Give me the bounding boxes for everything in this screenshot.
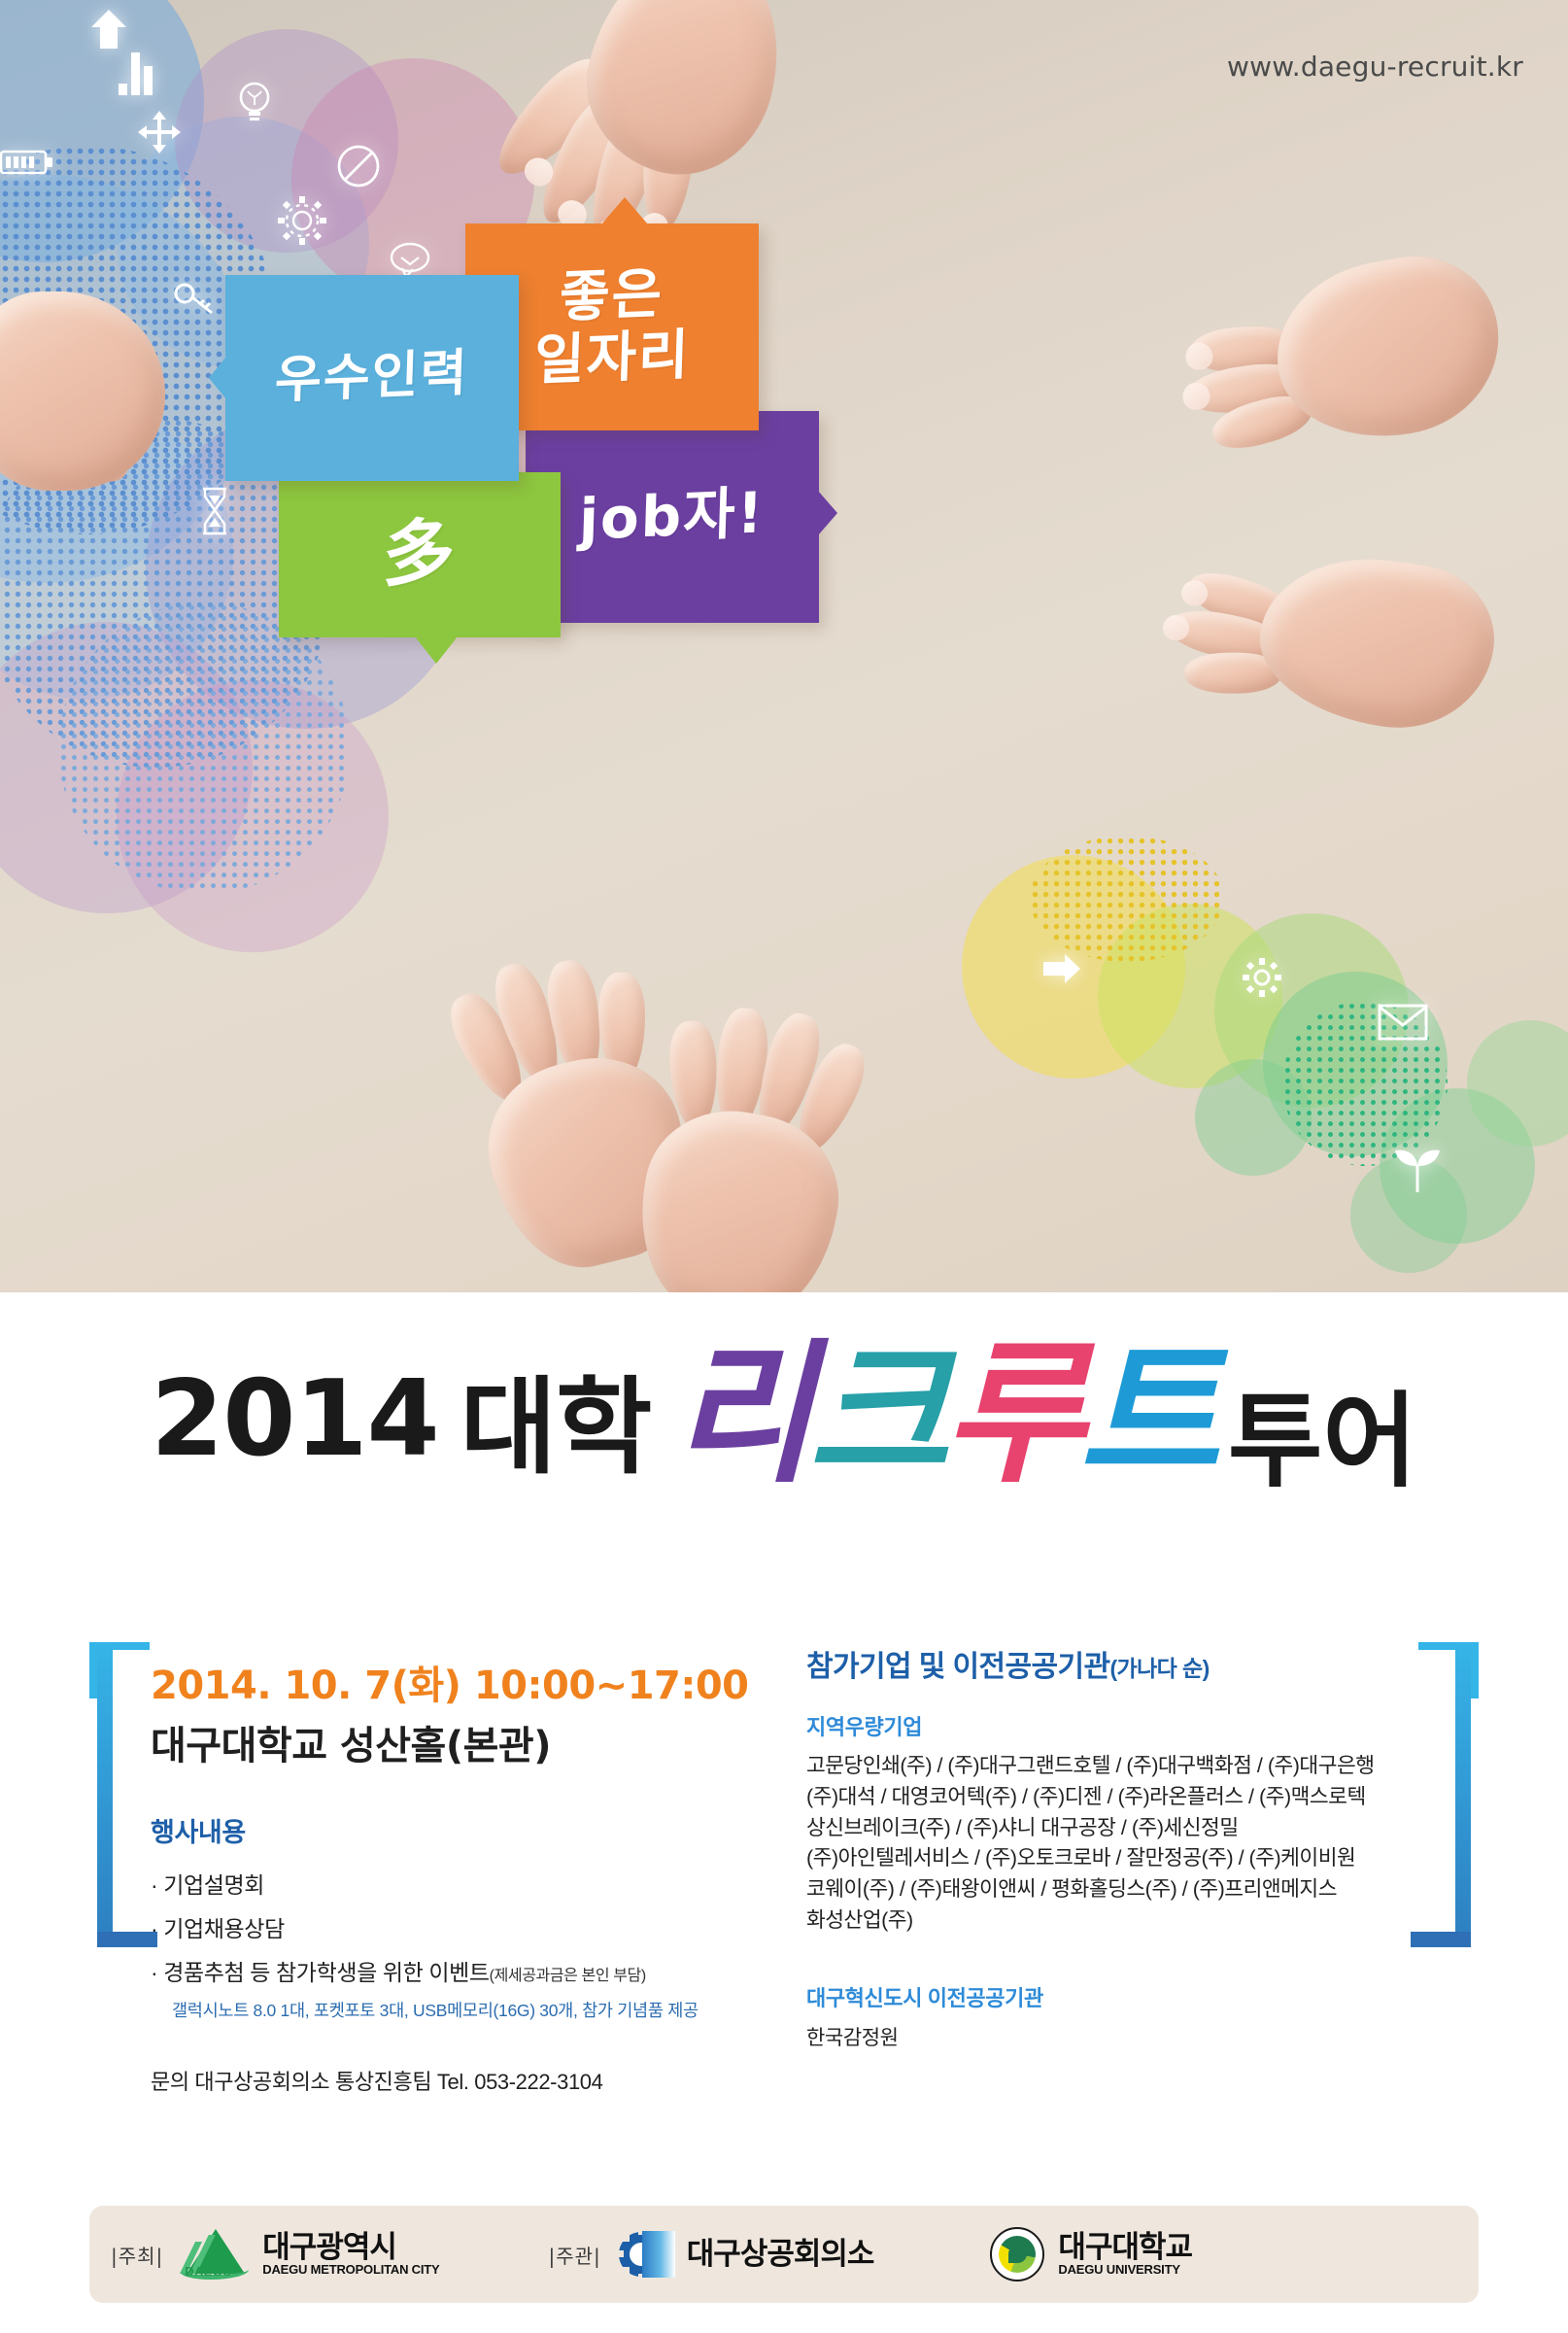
poster-title: 2014 대학 리 크 루 트 투어: [0, 1292, 1568, 1545]
event-date: 2014. 10. 7(화) 10:00~17:00: [151, 1654, 753, 1710]
daegu-city-name-en: DAEGU METROPOLITAN CITY: [262, 2262, 439, 2277]
company-line: 고문당인쇄(주) / (주)대구그랜드호텔 / (주)대구백화점 / (주)대구…: [806, 1751, 1428, 1782]
participants-title: 참가기업 및 이전공공기관(가나다 순): [806, 1642, 1428, 1685]
poster: www.daegu-recruit.kr: [0, 0, 1568, 2333]
daegu-mark-text: DAEGU: [185, 2264, 231, 2279]
program-item: ·경품추첨 등 참가학생을 위한 이벤트(제세공과금은 본인 부담): [151, 1954, 753, 1987]
bracket-top-left-v: [89, 1642, 97, 1698]
bubble-good-job-line1: 좋은: [560, 266, 665, 326]
bubble-talent-text: 우수인력: [275, 349, 470, 408]
info-panel: 2014. 10. 7(화) 10:00~17:00 대구대학교 성산홀(본관)…: [0, 1545, 1568, 2186]
daegu-university-seal-icon: [990, 2227, 1044, 2282]
bracket-right-bar: [1455, 1642, 1471, 1943]
bubble-jobja-text: job자!: [579, 485, 767, 550]
bullet-dot: ·: [151, 1872, 157, 1898]
gear-logo-icon: [617, 2228, 675, 2281]
key-icon: [173, 280, 216, 319]
bracket-bottom-left: [97, 1932, 157, 1947]
hero-image: www.daegu-recruit.kr: [0, 0, 1568, 1292]
event-venue: 대구대학교 성산홀(본관): [151, 1714, 753, 1770]
company-line: 코웨이(주) / (주)태왕이앤씨 / 평화홀딩스(주) / (주)프리앤메지스: [806, 1874, 1428, 1905]
organizer-label: |주관|: [549, 2241, 601, 2269]
gear-icon: [276, 194, 328, 247]
program-item: ·기업설명회: [151, 1867, 753, 1900]
contact-info: 문의 대구상공회의소 통상진흥팀 Tel. 053-222-3104: [151, 2065, 753, 2096]
daegu-university-name-kr: 대구대학교: [1058, 2232, 1192, 2263]
battery-icon: [0, 148, 54, 177]
participants-title-paren: (가나다 순): [1109, 1656, 1209, 1681]
daegu-city-logo: DAEGU 대구광역시 DAEGU METROPOLITAN CITY: [179, 2229, 439, 2280]
chat-icon: [389, 241, 431, 280]
company-line: (주)아인텔레서비스 / (주)오토크로바 / 잘만정공(주) / (주)케이비…: [806, 1843, 1428, 1874]
local-companies-heading: 지역우량기업: [806, 1710, 1428, 1741]
gear-small-icon: [1242, 957, 1282, 998]
title-univ: 대학: [460, 1343, 652, 1494]
bubble-da: 多: [279, 472, 561, 637]
sponsor-footer: |주최| DAEGU 대구광역시 DAEGU METROPOLITAN CITY…: [89, 2206, 1479, 2303]
website-url: www.daegu-recruit.kr: [1227, 51, 1523, 83]
hourglass-icon: [198, 486, 231, 536]
agency-line: 한국감정원: [806, 2022, 1428, 2051]
lightbulb-icon: [235, 80, 274, 124]
bubble-talent: 우수인력: [225, 275, 519, 481]
bullet-dot: ·: [151, 1916, 157, 1941]
daegu-mountain-icon: DAEGU: [179, 2229, 251, 2280]
title-char-ri: 리: [672, 1338, 807, 1492]
bubble-good-job-line2: 일자리: [533, 326, 691, 388]
public-agencies-heading: 대구혁신도시 이전공공기관: [806, 1981, 1428, 2012]
move-arrows-icon: [136, 109, 183, 155]
envelope-icon: [1378, 1003, 1428, 1042]
title-year: 2014: [151, 1358, 439, 1480]
event-details-column: 2014. 10. 7(화) 10:00~17:00 대구대학교 성산홀(본관)…: [151, 1654, 753, 2096]
program-item-text: 기업설명회: [163, 1872, 264, 1898]
company-line: (주)대석 / 대영코어텍(주) / (주)디젠 / (주)라온플러스 / (주…: [806, 1782, 1428, 1813]
event-program-heading: 행사내용: [151, 1811, 753, 1849]
bracket-left-bar: [97, 1642, 113, 1943]
bubble-da-text: 多: [382, 517, 458, 594]
title-char-ru: 루: [943, 1338, 1078, 1492]
company-line: 화성산업(주): [806, 1905, 1428, 1937]
bar-chart-icon: [117, 49, 161, 97]
daegu-city-name-kr: 대구광역시: [262, 2232, 439, 2263]
title-char-teu: 트: [1079, 1338, 1214, 1492]
daegu-university-name-en: DAEGU UNIVERSITY: [1058, 2262, 1192, 2277]
halftone-circle: [58, 602, 350, 894]
title-tail: 투어: [1228, 1357, 1417, 1507]
participants-column: 참가기업 및 이전공공기관(가나다 순) 지역우량기업 고문당인쇄(주) / (…: [806, 1642, 1428, 2051]
no-entry-icon: [336, 144, 381, 189]
program-item-text: 기업채용상담: [163, 1916, 285, 1941]
program-item: ·기업채용상담: [151, 1910, 753, 1943]
gift-items: 갤럭시노트 8.0 1대, 포켓포토 3대, USB메모리(16G) 30개, …: [172, 1998, 753, 2022]
dcci-name-kr: 대구상공회의소: [687, 2239, 874, 2270]
arrow-right-icon: [1041, 952, 1082, 985]
host-label: |주최|: [111, 2241, 163, 2269]
halftone-circle: [1030, 836, 1224, 962]
program-item-text: 경품추첨 등 참가학생을 위한 이벤트: [163, 1960, 489, 1985]
program-item-note: (제세공과금은 본인 부담): [490, 1968, 646, 1984]
participants-title-main: 참가기업 및 이전공공기관: [806, 1651, 1109, 1683]
arrow-up-icon: [89, 8, 128, 51]
leaf-icon: [1391, 1147, 1444, 1195]
bubble-jobja: job자!: [526, 411, 819, 623]
company-line: 상신브레이크(주) / (주)샤니 대구공장 / (주)세신정밀: [806, 1813, 1428, 1844]
bracket-top-right-v: [1471, 1642, 1479, 1698]
bullet-dot: ·: [151, 1960, 157, 1985]
title-char-keu: 크: [808, 1338, 943, 1492]
dcci-logo: 대구상공회의소: [617, 2228, 874, 2281]
